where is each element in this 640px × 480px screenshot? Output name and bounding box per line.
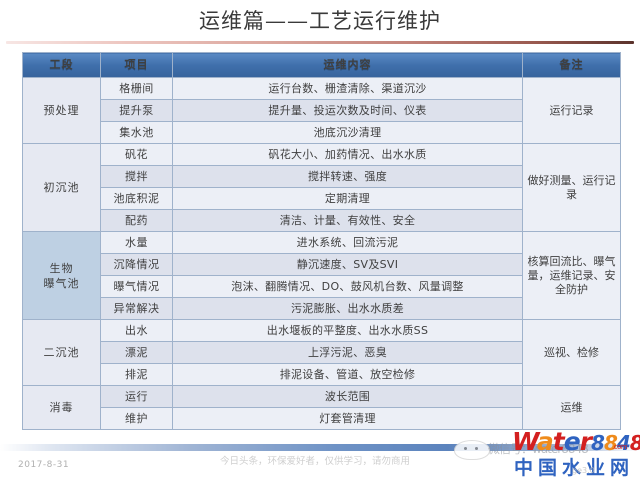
segment-cell-secondary-sedimentation: 二沉池 bbox=[23, 320, 101, 386]
item-cell: 维护 bbox=[101, 408, 173, 430]
segment-cell-bio-aeration-tank: 生物 曝气池 bbox=[23, 232, 101, 320]
content-cell: 波长范围 bbox=[173, 386, 523, 408]
segment-cell-primary-sedimentation: 初沉池 bbox=[23, 144, 101, 232]
watermark-ghost-text: ge3.0 bbox=[572, 466, 595, 475]
segment-label-line: 生物 bbox=[23, 261, 100, 276]
table-header-row: 工段 项目 运维内容 备注 bbox=[23, 53, 621, 78]
table-row: 生物 曝气池 水量 进水系统、回流污泥 核算回流比、曝气量，运维记录、安全防护 bbox=[23, 232, 621, 254]
watermark-domain-suffix: .com bbox=[612, 443, 627, 451]
content-cell: 定期清理 bbox=[173, 188, 523, 210]
content-cell-highlight: 污泥膨胀、出水水质差 bbox=[173, 298, 523, 320]
table-row: 初沉池 矾花 矾花大小、加药情况、出水水质 做好测量、运行记录 bbox=[23, 144, 621, 166]
segment-cell-pretreatment: 预处理 bbox=[23, 78, 101, 144]
segment-label-line: 二沉池 bbox=[23, 345, 100, 360]
segment-cell-disinfection: 消毒 bbox=[23, 386, 101, 430]
item-cell: 配药 bbox=[101, 210, 173, 232]
slide-canvas: 运维篇——工艺运行维护 工段 项目 运维内容 备注 预处理 bbox=[0, 0, 640, 480]
item-cell: 矾花 bbox=[101, 144, 173, 166]
item-cell: 沉降情况 bbox=[101, 254, 173, 276]
content-cell: 搅拌转速、强度 bbox=[173, 166, 523, 188]
item-cell: 出水 bbox=[101, 320, 173, 342]
col-header-content: 运维内容 bbox=[173, 53, 523, 78]
table-body: 预处理 格栅间 运行台数、栅渣清除、渠道沉沙 运行记录 提升泵 提升量、投运次数… bbox=[23, 78, 621, 430]
brand-number: 8 bbox=[630, 431, 640, 455]
content-cell: 运行台数、栅渣清除、渠道沉沙 bbox=[173, 78, 523, 100]
item-cell: 池底积泥 bbox=[101, 188, 173, 210]
segment-label-line: 消毒 bbox=[23, 400, 100, 415]
content-cell: 提升量、投运次数及时间、仪表 bbox=[173, 100, 523, 122]
footer-date: 2017-8-31 bbox=[18, 460, 69, 470]
item-cell: 运行 bbox=[101, 386, 173, 408]
page-title: 运维篇——工艺运行维护 bbox=[0, 2, 640, 40]
maintenance-table-wrapper: 工段 项目 运维内容 备注 预处理 格栅间 运行台数、栅渣清除、渠道沉沙 运行记… bbox=[22, 52, 620, 430]
content-cell: 进水系统、回流污泥 bbox=[173, 232, 523, 254]
note-cell: 核算回流比、曝气量，运维记录、安全防护 bbox=[523, 232, 621, 320]
title-divider-rule bbox=[6, 41, 634, 44]
title-area: 运维篇——工艺运行维护 bbox=[0, 2, 640, 42]
note-cell: 做好测量、运行记录 bbox=[523, 144, 621, 232]
content-cell: 上浮污泥、恶臭 bbox=[173, 342, 523, 364]
note-cell: 运行记录 bbox=[523, 78, 621, 144]
content-cell: 矾花大小、加药情况、出水水质 bbox=[173, 144, 523, 166]
segment-label-line: 曝气池 bbox=[23, 276, 100, 291]
col-header-item: 项目 bbox=[101, 53, 173, 78]
footer-disclaimer: 今日头条，环保爱好者，仅供学习，请勿商用 bbox=[200, 455, 430, 468]
content-cell: 池底沉沙清理 bbox=[173, 122, 523, 144]
item-cell: 提升泵 bbox=[101, 100, 173, 122]
content-cell: 出水堰板的平整度、出水水质SS bbox=[173, 320, 523, 342]
item-cell: 漂泥 bbox=[101, 342, 173, 364]
segment-label-line: 预处理 bbox=[23, 103, 100, 118]
content-cell: 清洁、计量、有效性、安全 bbox=[173, 210, 523, 232]
segment-label-line: 初沉池 bbox=[23, 180, 100, 195]
content-cell: 泡沫、翻腾情况、DO、鼓风机台数、风量调整 bbox=[173, 276, 523, 298]
table-row: 二沉池 出水 出水堰板的平整度、出水水质SS 巡视、检修 bbox=[23, 320, 621, 342]
table-row: 预处理 格栅间 运行台数、栅渣清除、渠道沉沙 运行记录 bbox=[23, 78, 621, 100]
col-header-note: 备注 bbox=[523, 53, 621, 78]
table-header: 工段 项目 运维内容 备注 bbox=[23, 53, 621, 78]
note-cell: 巡视、检修 bbox=[523, 320, 621, 386]
brand-letter: r bbox=[580, 427, 591, 456]
item-cell: 集水池 bbox=[101, 122, 173, 144]
item-cell: 搅拌 bbox=[101, 166, 173, 188]
brand-letter: t bbox=[553, 427, 564, 456]
item-cell: 水量 bbox=[101, 232, 173, 254]
item-cell: 格栅间 bbox=[101, 78, 173, 100]
table-row: 消毒 运行 波长范围 运维 bbox=[23, 386, 621, 408]
item-cell: 曝气情况 bbox=[101, 276, 173, 298]
brand-letter: a bbox=[537, 427, 553, 456]
col-header-segment: 工段 bbox=[23, 53, 101, 78]
content-cell: 静沉速度、SV及SVI bbox=[173, 254, 523, 276]
content-cell: 排泥设备、管道、放空检修 bbox=[173, 364, 523, 386]
brand-number: 8 bbox=[591, 431, 604, 455]
item-cell: 排泥 bbox=[101, 364, 173, 386]
panda-face-icon bbox=[454, 440, 490, 460]
brand-letter: e bbox=[564, 427, 580, 456]
note-cell: 运维 bbox=[523, 386, 621, 430]
brand-letter: W bbox=[512, 427, 537, 456]
maintenance-table: 工段 项目 运维内容 备注 预处理 格栅间 运行台数、栅渣清除、渠道沉沙 运行记… bbox=[22, 52, 621, 430]
watermark-logo: 微信号：water8848 Water8848 .com 中国水业网 ge3.0 bbox=[452, 426, 640, 480]
item-cell-highlight: 异常解决 bbox=[101, 298, 173, 320]
